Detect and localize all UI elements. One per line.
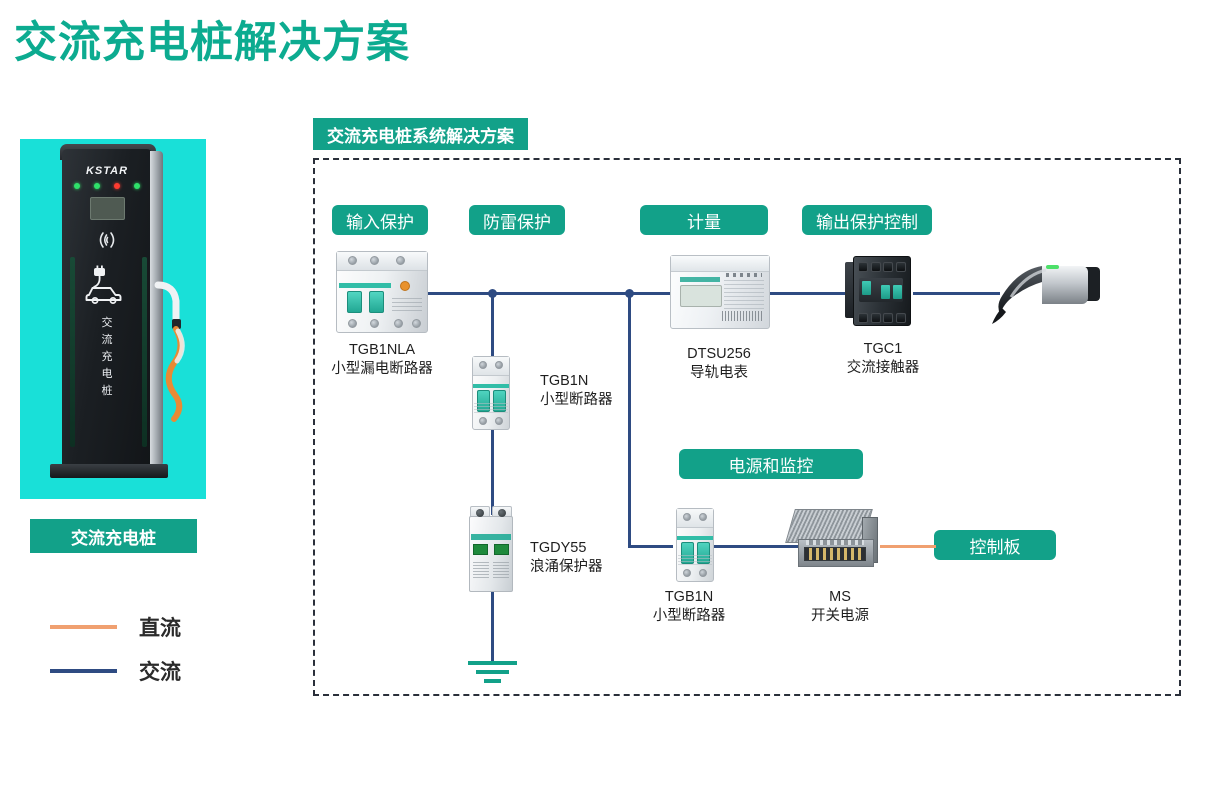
charging-gun-image [990, 252, 1110, 328]
ground-bar-2 [476, 670, 509, 674]
pile-base-plate [50, 464, 168, 478]
caption-spd: TGDY55 浪涌保护器 [530, 539, 603, 577]
product-caption-badge: 交流充电桩 [30, 519, 197, 553]
ev-charging-icon [82, 265, 132, 305]
caption-contactor-name: 交流接触器 [847, 359, 920, 378]
wire-ac-contactor-gun [913, 292, 1000, 295]
wire-dc-smps-control-board [880, 545, 936, 548]
pile-brand-text: KSTAR [62, 165, 152, 177]
wire-junction-spd [488, 289, 497, 298]
component-mcb-surge-image [468, 356, 514, 430]
badge-input-protection: 输入保护 [332, 205, 428, 235]
badge-power-monitoring: 电源和监控 [679, 449, 863, 479]
caption-smps: MS 开关电源 [811, 588, 869, 626]
status-led-1 [74, 183, 80, 189]
badge-surge-protection: 防雷保护 [469, 205, 565, 235]
caption-rcbo-name: 小型漏电断路器 [331, 360, 433, 379]
legend-swatch-dc [50, 625, 117, 629]
wire-junction-aux [625, 289, 634, 298]
caption-spd-model: TGDY55 [530, 539, 603, 558]
legend: 直流 交流 [50, 605, 181, 693]
caption-rcbo-model: TGB1NLA [331, 341, 433, 360]
caption-contactor: TGC1 交流接触器 [847, 340, 920, 378]
caption-smps-model: MS [811, 588, 869, 607]
caption-meter-model: DTSU256 [687, 345, 751, 364]
caption-spd-name: 浪涌保护器 [530, 558, 603, 577]
wire-ac-mcb-smps [710, 545, 798, 548]
caption-mcb-aux-model: TGB1N [653, 588, 726, 607]
component-contactor-image [845, 252, 917, 330]
ground-bar-1 [468, 661, 517, 665]
wire-ac-branch-aux-horizontal [628, 545, 673, 548]
badge-metering: 计量 [640, 205, 768, 235]
wire-ac-branch-ground [491, 590, 494, 662]
wire-ac-branch-aux-vertical [628, 292, 631, 547]
badge-control-board: 控制板 [934, 530, 1056, 560]
pile-charging-cable [154, 279, 188, 429]
pile-vertical-text: 交流充电桩 [62, 315, 152, 400]
component-mcb-aux-image [672, 508, 718, 582]
diagram-container [313, 158, 1181, 696]
status-led-3 [114, 183, 120, 189]
rfid-wave-icon [92, 229, 122, 251]
wire-ac-branch-spd-mid [491, 428, 494, 515]
legend-label-ac: 交流 [139, 656, 181, 686]
caption-mcb-surge: TGB1N 小型断路器 [540, 372, 613, 410]
pile-display-screen [90, 197, 125, 220]
component-smps-image [790, 509, 882, 573]
caption-mcb-surge-model: TGB1N [540, 372, 613, 391]
caption-contactor-model: TGC1 [847, 340, 920, 359]
component-meter-image [670, 255, 770, 329]
legend-swatch-ac [50, 669, 117, 673]
component-spd-image [469, 506, 513, 592]
pile-led-row [74, 183, 140, 189]
component-rcbo-image [336, 251, 428, 333]
poster-root: 交流充电桩解决方案 KSTAR [0, 0, 1213, 812]
product-photo: KSTAR [20, 139, 206, 499]
ground-bar-3 [484, 679, 501, 683]
caption-meter-name: 导轨电表 [687, 364, 751, 383]
legend-label-dc: 直流 [139, 612, 181, 642]
page-title: 交流充电桩解决方案 [14, 20, 410, 67]
caption-mcb-surge-name: 小型断路器 [540, 391, 613, 410]
badge-output-protection: 输出保护控制 [802, 205, 932, 235]
caption-meter: DTSU256 导轨电表 [687, 345, 751, 383]
caption-rcbo: TGB1NLA 小型漏电断路器 [331, 341, 433, 379]
system-title-badge: 交流充电桩系统解决方案 [313, 118, 528, 150]
caption-mcb-aux-name: 小型断路器 [653, 607, 726, 626]
status-led-4 [134, 183, 140, 189]
legend-item-ac: 交流 [50, 649, 181, 693]
status-led-2 [94, 183, 100, 189]
wire-ac-meter-contactor [767, 292, 850, 295]
legend-item-dc: 直流 [50, 605, 181, 649]
caption-mcb-aux: TGB1N 小型断路器 [653, 588, 726, 626]
wire-ac-branch-spd-top [491, 292, 494, 356]
caption-smps-name: 开关电源 [811, 607, 869, 626]
